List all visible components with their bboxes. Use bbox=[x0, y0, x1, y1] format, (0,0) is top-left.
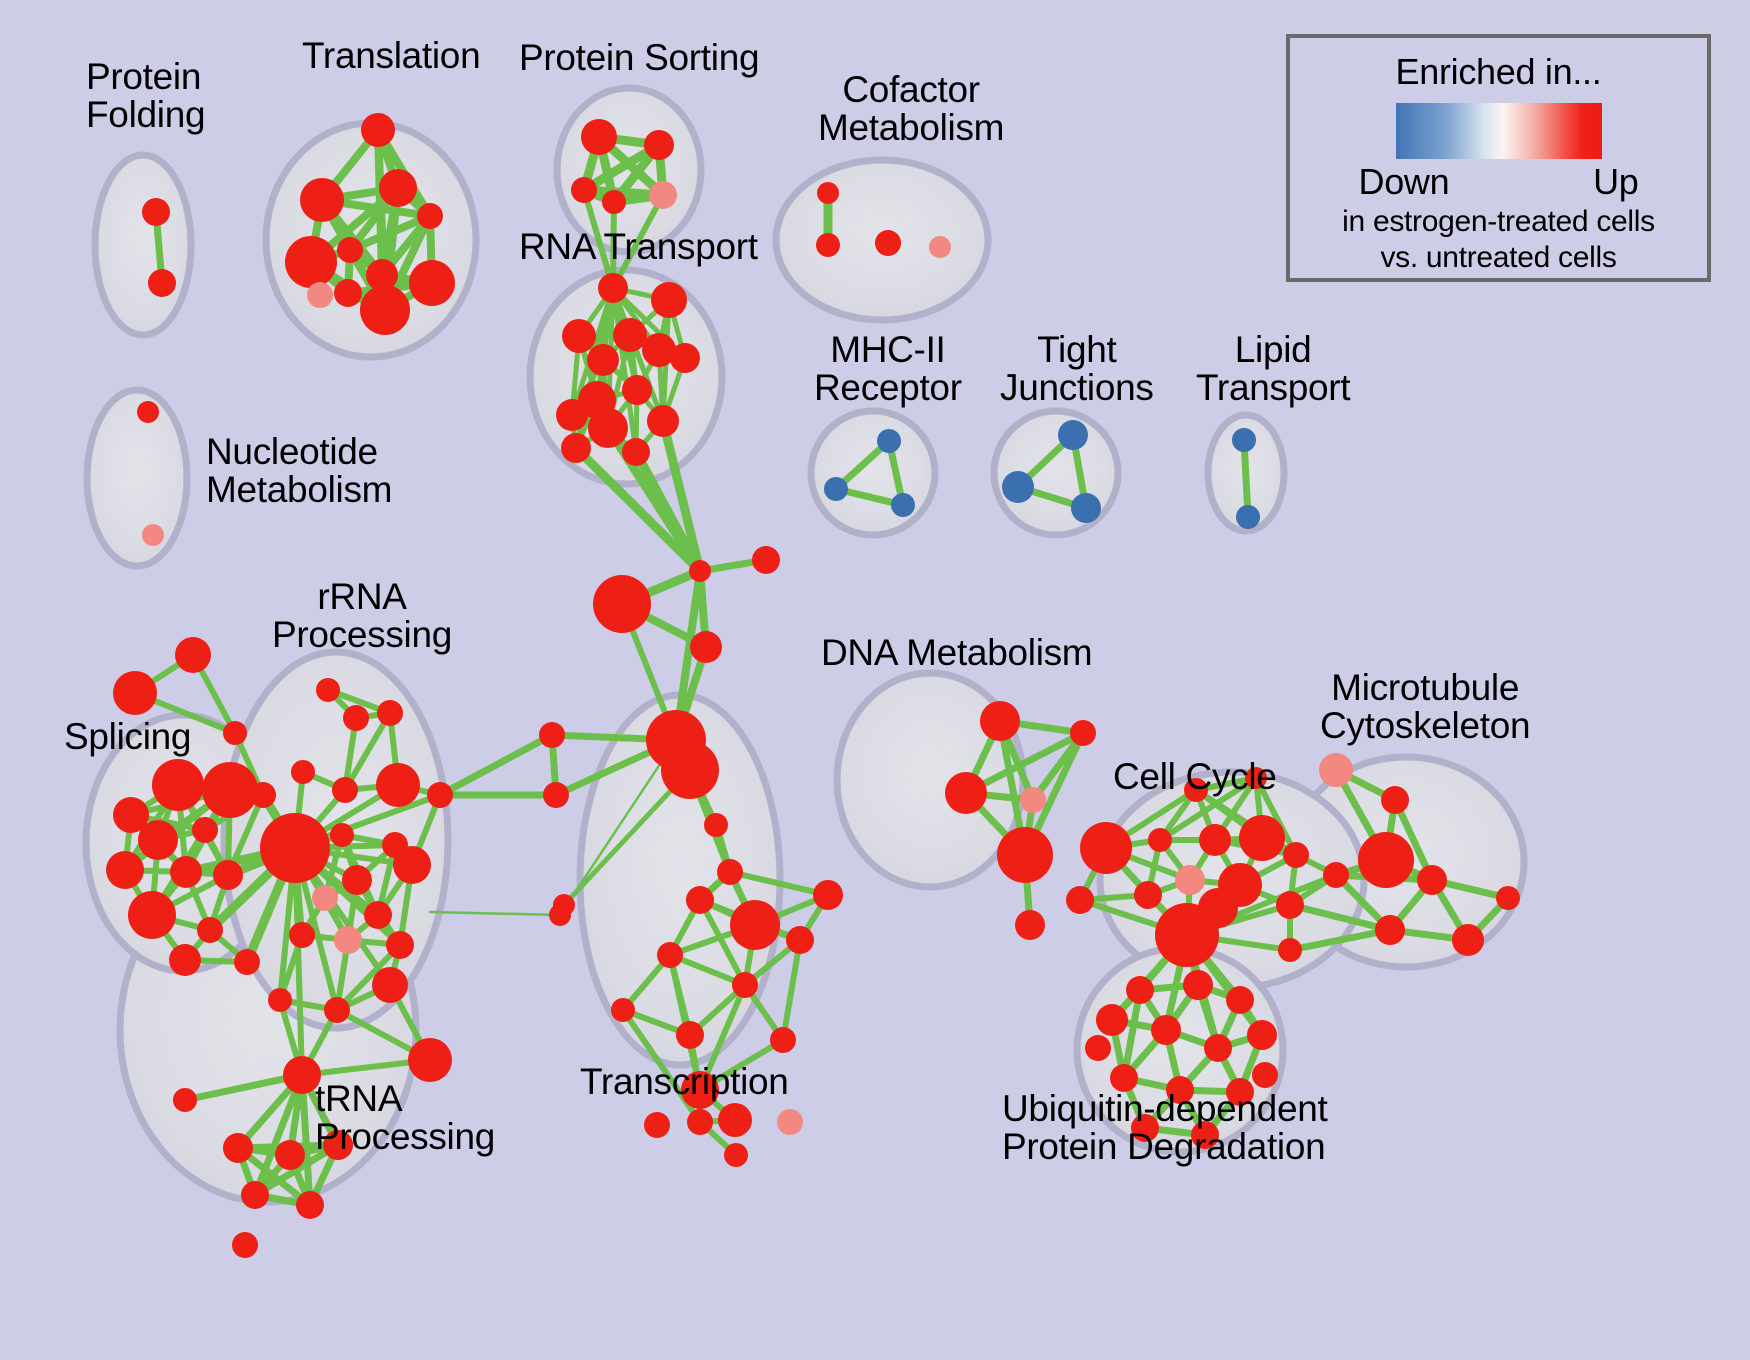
node bbox=[686, 886, 714, 914]
node bbox=[337, 237, 363, 263]
legend-up-label: Up bbox=[1593, 161, 1638, 203]
node bbox=[175, 637, 211, 673]
label-dna-metabolism: DNA Metabolism bbox=[821, 634, 1092, 672]
node bbox=[213, 860, 243, 890]
node bbox=[361, 113, 395, 147]
legend-color-gradient bbox=[1396, 103, 1602, 159]
node bbox=[732, 972, 758, 998]
label-transcription: Transcription bbox=[580, 1063, 789, 1101]
node bbox=[173, 1088, 197, 1112]
node bbox=[427, 782, 453, 808]
node bbox=[342, 865, 372, 895]
node bbox=[777, 1109, 803, 1135]
node bbox=[408, 1038, 452, 1082]
node bbox=[1085, 1035, 1111, 1061]
node bbox=[587, 344, 619, 376]
node bbox=[556, 399, 588, 431]
node bbox=[1151, 1015, 1181, 1045]
node bbox=[142, 198, 170, 226]
node bbox=[409, 260, 455, 306]
node bbox=[687, 1109, 713, 1135]
node bbox=[1375, 915, 1405, 945]
node bbox=[561, 433, 591, 463]
node bbox=[1175, 865, 1205, 895]
node bbox=[1236, 505, 1260, 529]
node bbox=[824, 477, 848, 501]
node bbox=[113, 671, 157, 715]
node bbox=[128, 891, 176, 939]
node bbox=[285, 236, 337, 288]
node bbox=[1276, 891, 1304, 919]
node bbox=[543, 782, 569, 808]
label-rrna-processing: rRNA Processing bbox=[272, 578, 452, 654]
node bbox=[651, 282, 687, 318]
node bbox=[192, 817, 218, 843]
node bbox=[330, 823, 354, 847]
label-translation: Translation bbox=[302, 37, 480, 75]
legend-box: Enriched in... Down Up in estrogen-treat… bbox=[1286, 34, 1711, 282]
node bbox=[690, 631, 722, 663]
node bbox=[717, 859, 743, 885]
legend-subtitle-line2: vs. untreated cells bbox=[1380, 241, 1616, 275]
node bbox=[197, 917, 223, 943]
node bbox=[138, 820, 178, 860]
node bbox=[1002, 471, 1034, 503]
node bbox=[1232, 428, 1256, 452]
node bbox=[571, 177, 597, 203]
node bbox=[417, 203, 443, 229]
node bbox=[364, 901, 392, 929]
node bbox=[241, 1181, 269, 1209]
node bbox=[593, 575, 651, 633]
node bbox=[611, 998, 635, 1022]
label-mhc-ii-receptor: MHC-II Receptor bbox=[814, 331, 962, 407]
node bbox=[676, 1021, 704, 1049]
node bbox=[360, 285, 410, 335]
label-nucleotide-metabolism: Nucleotide Metabolism bbox=[206, 433, 392, 509]
node bbox=[602, 190, 626, 214]
node bbox=[289, 922, 315, 948]
node bbox=[148, 269, 176, 297]
node bbox=[377, 700, 403, 726]
label-protein-folding: Protein Folding bbox=[86, 58, 205, 134]
node bbox=[816, 233, 840, 257]
node bbox=[1239, 815, 1285, 861]
node bbox=[644, 130, 674, 160]
node bbox=[1283, 842, 1309, 868]
node bbox=[644, 1112, 670, 1138]
node bbox=[770, 1027, 796, 1053]
node bbox=[997, 827, 1053, 883]
node bbox=[1252, 1062, 1278, 1088]
node bbox=[1278, 938, 1302, 962]
node bbox=[752, 546, 780, 574]
node bbox=[1226, 986, 1254, 1014]
node bbox=[1358, 832, 1414, 888]
node bbox=[169, 944, 201, 976]
legend-title: Enriched in... bbox=[1396, 51, 1602, 93]
node bbox=[142, 524, 164, 546]
label-cell-cycle: Cell Cycle bbox=[1113, 758, 1277, 796]
node bbox=[1134, 881, 1162, 909]
node bbox=[657, 942, 683, 968]
node bbox=[1071, 493, 1101, 523]
node bbox=[376, 763, 420, 807]
node bbox=[1096, 1004, 1128, 1036]
node bbox=[929, 236, 951, 258]
node bbox=[250, 782, 276, 808]
label-tight-junctions: Tight Junctions bbox=[1000, 331, 1154, 407]
node bbox=[670, 343, 700, 373]
node bbox=[817, 182, 839, 204]
cluster-nucleotide-metabolism bbox=[87, 390, 187, 566]
network-figure: Protein Folding Translation Protein Sort… bbox=[0, 0, 1750, 1360]
node bbox=[223, 721, 247, 745]
node bbox=[622, 375, 652, 405]
node bbox=[1126, 976, 1154, 1004]
node bbox=[581, 119, 617, 155]
node bbox=[704, 813, 728, 837]
node bbox=[1417, 865, 1447, 895]
node bbox=[549, 904, 571, 926]
node bbox=[343, 705, 369, 731]
label-splicing: Splicing bbox=[64, 718, 191, 756]
node bbox=[260, 813, 330, 883]
node bbox=[588, 408, 628, 448]
node bbox=[312, 885, 338, 911]
node bbox=[1323, 862, 1349, 888]
node bbox=[202, 762, 258, 818]
node bbox=[875, 230, 901, 256]
node bbox=[316, 678, 340, 702]
legend-subtitle-line1: in estrogen-treated cells bbox=[1342, 205, 1655, 239]
node bbox=[1199, 824, 1231, 856]
node bbox=[106, 851, 144, 889]
node bbox=[562, 319, 596, 353]
node bbox=[379, 169, 417, 207]
cluster-mhc-ii-receptor bbox=[811, 411, 935, 535]
node bbox=[307, 282, 333, 308]
node bbox=[1058, 420, 1088, 450]
label-rna-transport: RNA Transport bbox=[519, 228, 758, 266]
node bbox=[689, 560, 711, 582]
node bbox=[268, 988, 292, 1012]
node bbox=[613, 318, 647, 352]
node bbox=[1183, 970, 1213, 1000]
node bbox=[1066, 886, 1094, 914]
node bbox=[980, 701, 1020, 741]
node bbox=[137, 401, 159, 423]
node bbox=[1070, 720, 1096, 746]
cluster-protein-folding bbox=[95, 155, 191, 335]
node bbox=[877, 429, 901, 453]
node bbox=[647, 405, 679, 437]
node bbox=[1381, 786, 1409, 814]
node bbox=[1204, 1034, 1232, 1062]
node bbox=[1148, 828, 1172, 852]
node bbox=[332, 777, 358, 803]
node bbox=[945, 772, 987, 814]
node bbox=[649, 181, 677, 209]
node bbox=[724, 1143, 748, 1167]
node bbox=[622, 438, 650, 466]
node bbox=[1198, 888, 1238, 928]
legend-down-label: Down bbox=[1359, 161, 1450, 203]
label-microtubule-cytoskeleton: Microtubule Cytoskeleton bbox=[1320, 669, 1530, 745]
node bbox=[1496, 886, 1520, 910]
node bbox=[730, 900, 780, 950]
label-trna-processing: tRNA Processing bbox=[315, 1080, 495, 1156]
node bbox=[234, 949, 260, 975]
node bbox=[291, 760, 315, 784]
node bbox=[1080, 822, 1132, 874]
node bbox=[275, 1140, 305, 1170]
node bbox=[372, 967, 408, 1003]
node bbox=[386, 931, 414, 959]
node bbox=[891, 493, 915, 517]
node bbox=[152, 759, 204, 811]
node bbox=[334, 926, 362, 954]
label-cofactor-metabolism: Cofactor Metabolism bbox=[818, 71, 1004, 147]
node bbox=[223, 1133, 253, 1163]
node bbox=[334, 279, 362, 307]
label-protein-sorting: Protein Sorting bbox=[519, 39, 759, 77]
node bbox=[661, 741, 719, 799]
node bbox=[1452, 924, 1484, 956]
node bbox=[393, 846, 431, 884]
node bbox=[813, 880, 843, 910]
label-ubiquitin-protein-degradation: Ubiquitin-dependent Protein Degradation bbox=[1002, 1090, 1328, 1166]
node bbox=[300, 178, 344, 222]
node bbox=[786, 926, 814, 954]
node bbox=[1020, 787, 1046, 813]
node bbox=[324, 997, 350, 1023]
node bbox=[1319, 753, 1353, 787]
label-lipid-transport: Lipid Transport bbox=[1196, 331, 1350, 407]
node bbox=[598, 273, 628, 303]
node bbox=[1247, 1020, 1277, 1050]
node bbox=[296, 1191, 324, 1219]
node bbox=[232, 1232, 258, 1258]
node bbox=[1015, 910, 1045, 940]
node bbox=[718, 1103, 752, 1137]
node bbox=[539, 722, 565, 748]
node bbox=[170, 856, 202, 888]
